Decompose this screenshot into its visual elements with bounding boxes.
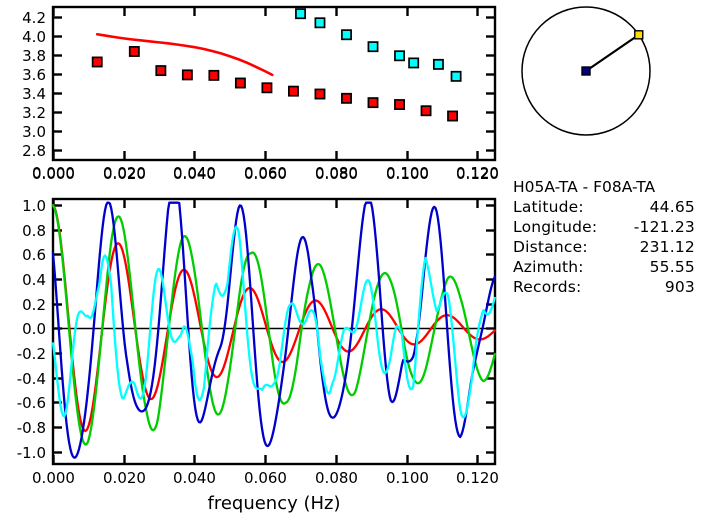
data-marker [236,78,245,87]
dispersion-ytick-label: 2.8 [22,142,46,160]
info-label: Records: [513,278,581,296]
data-marker [289,87,298,96]
data-marker [315,89,324,98]
dispersion-ytick-label: 3.6 [22,66,46,84]
dispersion-xtick-label: 0.020 [103,165,146,183]
station-pair-title: H05A-TA - F08A-TA [513,178,655,196]
dispersion-xtick-label: 0.000 [32,165,75,183]
info-label: Distance: [513,238,588,256]
waveform-ytick-label: 1.0 [22,197,46,215]
data-marker [452,72,461,81]
frequency-axis-title: frequency (Hz) [207,493,340,514]
data-marker [395,51,404,60]
data-marker [409,58,418,67]
waveform-ytick-label: 0.2 [22,296,46,314]
dispersion-xtick-label: 0.040 [173,165,216,183]
series-cyan-broadband [53,227,495,417]
data-marker [315,18,324,27]
waveform-ytick-label: 0.0 [22,320,46,338]
azimuth-circle [522,7,650,135]
data-marker [448,111,457,120]
info-label: Longitude: [513,218,597,236]
waveform-ytick-label: -1.0 [17,444,46,462]
data-marker [93,57,102,66]
waveform-ytick-label: -0.4 [17,370,46,388]
dispersion-ytick-label: 4.2 [22,9,46,27]
dispersion-ytick-label: 3.8 [22,47,46,65]
dispersion-xtick-label: 0.120 [456,165,499,183]
waveform-xtick-label: 0.020 [103,469,146,487]
waveform-xtick-label: 0.100 [386,469,429,487]
station-info-panel: H05A-TA - F08A-TALatitude:44.65Longitude… [513,178,695,296]
data-marker [342,94,351,103]
data-marker [434,60,443,69]
waveform-xtick-label: 0.060 [244,469,287,487]
waveform-xtick-label: 0.040 [173,469,216,487]
info-label: Azimuth: [513,258,584,276]
waveform-ytick-label: 0.4 [22,271,46,289]
data-marker [183,70,192,79]
waveform-ytick-label: 0.6 [22,246,46,264]
station-endpoint-marker [635,31,643,39]
dispersion-ytick-label: 3.4 [22,85,46,103]
info-value: 44.65 [650,198,695,216]
waveform-ytick-label: -0.6 [17,394,46,412]
figure-canvas: 0.0000.0200.0400.0600.0800.1000.1202.83.… [0,0,702,519]
series-green-narrowband [53,205,495,444]
data-marker [395,100,404,109]
seismic-dispersion-figure: 0.0000.0200.0400.0600.0800.1000.1202.83.… [0,0,702,519]
data-marker [156,66,165,75]
dispersion-axes: 0.0000.0200.0400.0600.0800.1000.1202.83.… [22,7,499,182]
info-value: 903 [665,278,695,296]
data-marker [368,98,377,107]
waveform-xtick-label: 0.120 [456,469,499,487]
series-reference-curve [97,34,272,75]
data-marker [262,83,271,92]
dispersion-data [93,9,461,121]
waveform-xtick-label: 0.000 [32,469,75,487]
data-marker [342,30,351,39]
data-marker [130,47,139,56]
dispersion-xtick-label: 0.100 [386,165,429,183]
info-value: 231.12 [640,238,695,256]
azimuth-ray [586,35,639,71]
dispersion-xtick-label: 0.060 [244,165,287,183]
waveform-xtick-label: 0.080 [315,469,358,487]
info-value: 55.55 [650,258,695,276]
info-label: Latitude: [513,198,584,216]
data-marker [296,9,305,18]
data-marker [209,71,218,80]
dispersion-plot-frame [53,7,495,160]
dispersion-ytick-label: 3.2 [22,104,46,122]
waveform-data [53,203,495,458]
info-value: -121.23 [634,218,695,236]
dispersion-xtick-label: 0.080 [315,165,358,183]
waveform-ytick-label: -0.8 [17,419,46,437]
dispersion-ytick-label: 4.0 [22,28,46,46]
dispersion-ytick-label: 3.0 [22,123,46,141]
data-marker [368,42,377,51]
waveform-ytick-label: -0.2 [17,345,46,363]
waveform-ytick-label: 0.8 [22,222,46,240]
data-marker [421,106,430,115]
station-center-marker [582,67,590,75]
